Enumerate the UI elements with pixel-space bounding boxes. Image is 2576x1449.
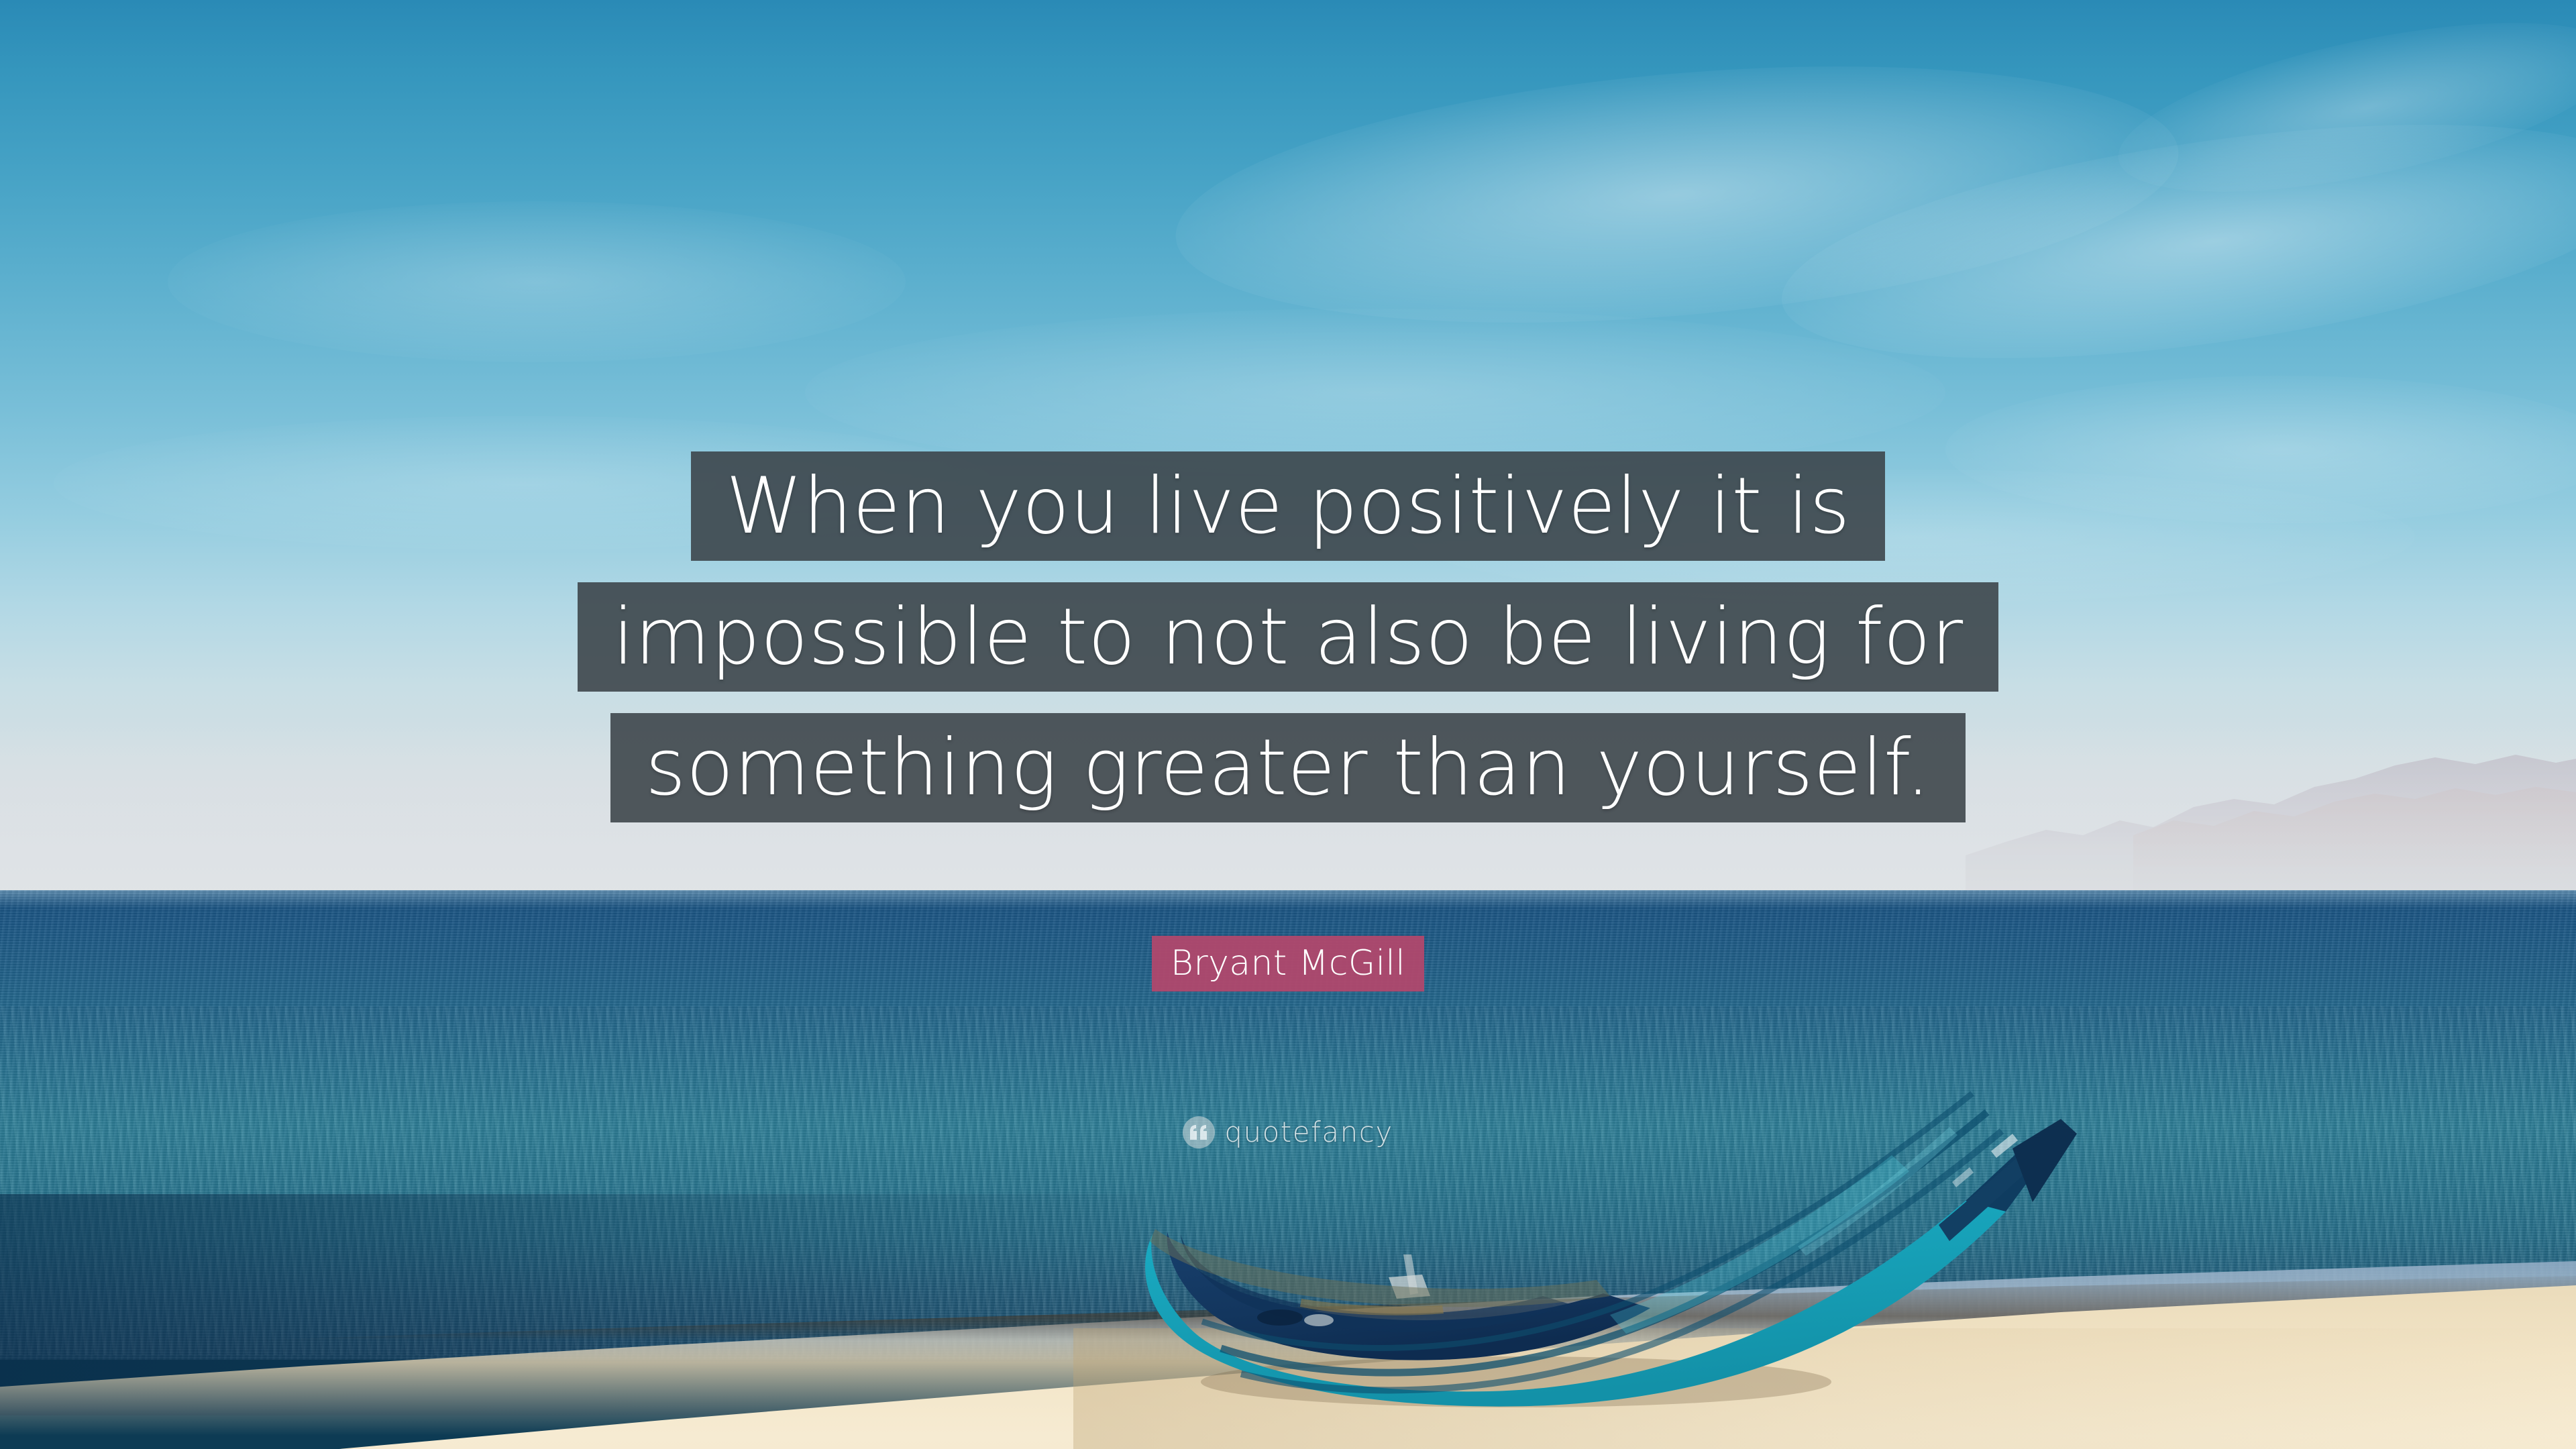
quote-line-2: impossible to not also be living for — [578, 582, 1998, 692]
watermark-brand: quotefancy — [1224, 1116, 1393, 1148]
beached-boat — [1140, 1033, 2093, 1409]
watermark[interactable]: quotefancy — [0, 1116, 2576, 1148]
quote-poster: When you live positively it is impossibl… — [0, 0, 2576, 1449]
author-badge-wrapper: Bryant McGill — [0, 936, 2576, 991]
quote-line-3: something greater than yourself. — [610, 713, 1966, 822]
quote-mark-icon — [1183, 1116, 1215, 1148]
author-name-badge[interactable]: Bryant McGill — [1152, 936, 1424, 991]
quote-block: When you live positively it is impossibl… — [0, 451, 2576, 822]
quote-line-1: When you live positively it is — [691, 451, 1885, 561]
